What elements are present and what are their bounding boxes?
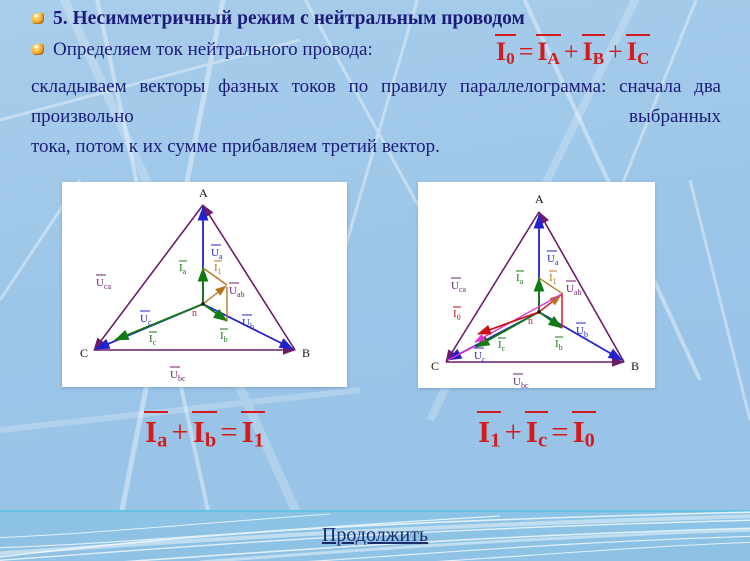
phasor-diagram-left-card[interactable]: A B C n Ua Ub Uc Uab Ubc Uca xyxy=(62,182,347,387)
paragraph-text-last-line: тока, потом к их сумме прибавляем третий… xyxy=(31,132,721,162)
node-label-n: n xyxy=(192,308,197,319)
label-Ub: Ub xyxy=(576,325,588,339)
gold-cube-bullet-icon xyxy=(31,43,46,57)
formula-neutral-current: I0=IA+IB+IC xyxy=(496,36,649,69)
equals-sign: = xyxy=(519,37,534,66)
label-Ic: Ic xyxy=(498,339,506,353)
label-Uca: Uca xyxy=(96,277,112,291)
formula-left-caption: Ia+Ib=I1 xyxy=(62,413,347,453)
label-Ic: Ic xyxy=(149,333,157,347)
phase-voltage-vectors xyxy=(448,215,622,360)
plus-sign: + xyxy=(564,37,579,66)
label-Ubc: Ubc xyxy=(513,376,529,388)
vector-Ic: Ic xyxy=(526,413,547,453)
label-Ib: Ib xyxy=(555,338,563,352)
label-Ua: Ua xyxy=(547,253,559,267)
slide-subtitle: Определяем ток нейтрального провода: xyxy=(31,39,501,61)
vector-Ib-line xyxy=(203,304,227,321)
plus-sign: + xyxy=(171,414,188,449)
label-Ia: Ia xyxy=(516,272,524,286)
slide-subtitle-text: Определяем ток нейтрального провода: xyxy=(53,39,373,60)
label-I1: I1 xyxy=(214,262,222,276)
label-Uc: Uc xyxy=(140,313,152,327)
label-Uab: Uab xyxy=(229,285,245,299)
slide-root: 5. Несимметричный режим с нейтральным пр… xyxy=(0,0,750,561)
vector-IB: IB xyxy=(583,36,605,69)
gold-cube-bullet-icon xyxy=(31,12,46,26)
phase-current-vectors xyxy=(115,268,227,340)
label-Uca: Uca xyxy=(451,280,467,294)
slide-paragraph: складываем векторы фазных токов по прави… xyxy=(31,72,721,162)
label-Ubc: Ubc xyxy=(170,369,186,383)
vector-Ib: Ib xyxy=(193,413,216,453)
vector-I1: I1 xyxy=(478,413,500,453)
vertex-label-C: C xyxy=(431,359,439,373)
label-Ua: Ua xyxy=(211,247,223,261)
node-label-n: n xyxy=(528,316,533,327)
phase-current-vectors xyxy=(476,278,562,347)
slide-title: 5. Несимметричный режим с нейтральным пр… xyxy=(31,8,731,30)
voltage-triangle-outline xyxy=(94,205,295,350)
vertex-label-A: A xyxy=(199,186,208,200)
label-I1: I1 xyxy=(549,272,557,286)
vector-I1-line xyxy=(539,295,561,312)
voltage-triangle-outline xyxy=(446,212,624,362)
label-Ia: Ia xyxy=(179,262,187,276)
label-I0: I0 xyxy=(453,308,461,322)
paragraph-text: складываем векторы фазных токов по прави… xyxy=(31,76,721,127)
plus-sign: + xyxy=(608,37,623,66)
label-Ib: Ib xyxy=(220,330,228,344)
phase-voltage-vectors xyxy=(96,207,293,349)
equals-sign: = xyxy=(220,414,237,449)
slide-title-text: 5. Несимметричный режим с нейтральным пр… xyxy=(53,8,525,29)
label-Uc: Uc xyxy=(474,350,486,364)
vector-I0: I0 xyxy=(573,413,595,453)
phasor-diagram-right-card[interactable]: A B C n Ua Ub Uc Uab Ubc Uca xyxy=(418,182,655,388)
node-n-dot xyxy=(201,302,205,306)
formula-right-caption: I1+Ic=I0 xyxy=(418,413,655,453)
vector-I0: I0 xyxy=(496,36,515,69)
label-Uab: Uab xyxy=(566,283,582,297)
equals-sign: = xyxy=(551,414,568,449)
vector-IC: IC xyxy=(627,36,650,69)
node-n-dot xyxy=(537,310,541,314)
plus-sign: + xyxy=(504,414,521,449)
vector-Ia: Ia xyxy=(145,413,167,453)
vertex-label-B: B xyxy=(631,359,639,373)
continue-link[interactable]: Продолжить xyxy=(0,524,750,547)
phasor-diagram-left: A B C n Ua Ub Uc Uab Ubc Uca xyxy=(62,182,347,387)
vector-I1-line xyxy=(203,286,226,304)
vertex-label-C: C xyxy=(80,346,88,360)
vertex-label-B: B xyxy=(302,346,310,360)
vector-Ib-line xyxy=(539,312,562,328)
label-Ub: Ub xyxy=(242,317,254,331)
vector-Ic-line xyxy=(115,304,203,340)
vector-I1: I1 xyxy=(242,413,264,453)
vertex-label-A: A xyxy=(535,192,544,206)
diagram-right-labels: A B C n Ua Ub Uc Uab Ubc Uca xyxy=(431,192,639,388)
phasor-diagram-right: A B C n Ua Ub Uc Uab Ubc Uca xyxy=(418,182,655,388)
vector-IA: IA xyxy=(537,36,560,69)
